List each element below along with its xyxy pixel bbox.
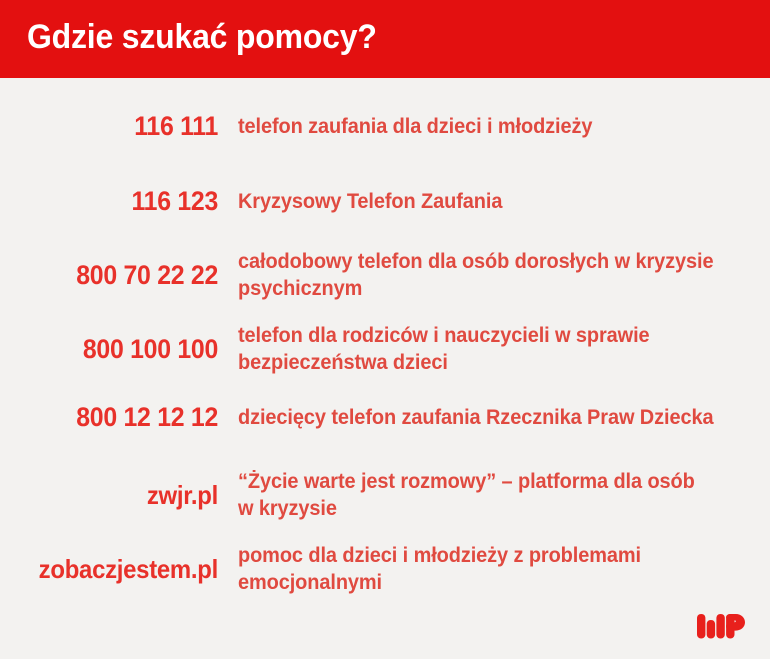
- helpline-description: całodobowy telefon dla osób dorosłych w …: [238, 248, 743, 302]
- helpline-description: dziecięcy telefon zaufania Rzecznika Pra…: [238, 404, 743, 431]
- helpline-description-line: emocjonalnymi: [238, 569, 740, 596]
- helpline-description: telefon dla rodziców i nauczycieli w spr…: [238, 322, 743, 376]
- helpline-number[interactable]: zwjr.pl: [17, 479, 218, 511]
- list-item: 800 70 22 22 całodobowy telefon dla osób…: [0, 246, 770, 304]
- helpline-description: Kryzysowy Telefon Zaufania: [238, 188, 743, 215]
- header-banner: Gdzie szukać pomocy?: [0, 0, 770, 78]
- list-item: zobaczjestem.pl pomoc dla dzieci i młodz…: [0, 540, 770, 598]
- page-title: Gdzie szukać pomocy?: [27, 12, 685, 62]
- helpline-description: telefon zaufania dla dzieci i młodzieży: [238, 113, 743, 140]
- list-item: zwjr.pl “Życie warte jest rozmowy” – pla…: [0, 466, 770, 524]
- helpline-description: pomoc dla dzieci i młodzieży z problemam…: [238, 542, 743, 596]
- helpline-description-line: Kryzysowy Telefon Zaufania: [238, 188, 740, 215]
- helpline-number[interactable]: 116 111: [17, 110, 218, 142]
- helpline-number[interactable]: 800 100 100: [17, 333, 218, 365]
- helpline-number[interactable]: 800 70 22 22: [17, 259, 218, 291]
- helpline-description-line: pomoc dla dzieci i młodzieży z problemam…: [238, 542, 740, 569]
- wp-logo-icon: [697, 608, 745, 646]
- helpline-description-line: dziecięcy telefon zaufania Rzecznika Pra…: [238, 404, 740, 431]
- list-item: 116 111 telefon zaufania dla dzieci i mł…: [0, 106, 770, 146]
- helpline-description-line: telefon zaufania dla dzieci i młodzieży: [238, 113, 740, 140]
- helpline-description-line: psychicznym: [238, 275, 740, 302]
- infographic-root: Gdzie szukać pomocy? 116 111 telefon zau…: [0, 0, 770, 659]
- list-item: 800 100 100 telefon dla rodziców i naucz…: [0, 320, 770, 378]
- helpline-number[interactable]: zobaczjestem.pl: [17, 553, 218, 585]
- helpline-description-line: bezpieczeństwa dzieci: [238, 349, 740, 376]
- helpline-number[interactable]: 116 123: [17, 185, 218, 217]
- helpline-number[interactable]: 800 12 12 12: [17, 401, 218, 433]
- helpline-description-line: w kryzysie: [238, 495, 740, 522]
- helpline-description-line: telefon dla rodziców i nauczycieli w spr…: [238, 322, 740, 349]
- helpline-description: “Życie warte jest rozmowy” – platforma d…: [238, 468, 743, 522]
- helpline-description-line: całodobowy telefon dla osób dorosłych w …: [238, 248, 740, 275]
- helpline-list: 116 111 telefon zaufania dla dzieci i mł…: [0, 78, 770, 659]
- helpline-description-line: “Życie warte jest rozmowy” – platforma d…: [238, 468, 740, 495]
- list-item: 116 123 Kryzysowy Telefon Zaufania: [0, 181, 770, 221]
- list-item: 800 12 12 12 dziecięcy telefon zaufania …: [0, 397, 770, 437]
